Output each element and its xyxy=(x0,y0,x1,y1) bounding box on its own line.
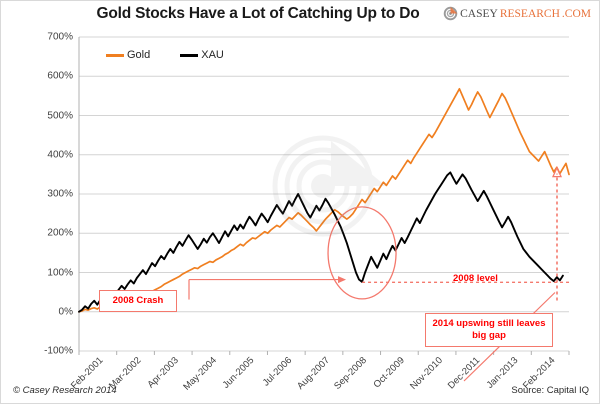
x-tick-label: Sep-2008 xyxy=(333,355,370,392)
legend: Gold XAU xyxy=(106,49,224,61)
logo-word-research: RESEARCH xyxy=(500,8,560,20)
x-tick-label: Oct-2009 xyxy=(372,355,407,390)
annotation-2008-crash: 2008 Crash xyxy=(99,290,177,312)
y-tick-label: 200% xyxy=(27,228,73,239)
annotation-2008-level: 2008 level xyxy=(453,273,498,284)
copyright-text: © Casey Research 2014 xyxy=(13,385,117,396)
spiral-swirl-icon xyxy=(443,6,458,21)
legend-label-xau: XAU xyxy=(201,49,224,61)
x-tick-label: Nov-2010 xyxy=(408,355,445,392)
x-tick-label: Dec-2011 xyxy=(446,355,482,391)
y-tick-label: 600% xyxy=(27,71,73,82)
legend-item-xau[interactable]: XAU xyxy=(180,49,224,61)
legend-swatch-xau xyxy=(180,54,198,57)
y-tick-label: 0% xyxy=(27,306,73,317)
y-axis: 700%600%500%400%300%200%100%0%-100% xyxy=(23,37,73,351)
y-tick-label: 500% xyxy=(27,110,73,121)
page-title: Gold Stocks Have a Lot of Catching Up to… xyxy=(53,5,463,23)
x-tick-label: Jun-2005 xyxy=(221,355,257,391)
source-text: Source: Capital IQ xyxy=(511,385,589,396)
legend-swatch-gold xyxy=(106,54,124,57)
y-tick-label: 300% xyxy=(27,189,73,200)
annotation-2014-gap: 2014 upswing still leaves big gap xyxy=(425,313,553,347)
annotation-crash-circle xyxy=(328,207,396,299)
x-axis: Feb-2001Mar-2002Apr-2003May-2004Jun-2005… xyxy=(79,353,569,393)
legend-label-gold: Gold xyxy=(127,49,150,61)
x-tick-label: Aug-2007 xyxy=(295,355,332,392)
chart-root: Gold Stocks Have a Lot of Catching Up to… xyxy=(0,0,600,404)
x-tick-label: Jul-2006 xyxy=(261,355,295,389)
y-tick-label: 700% xyxy=(27,32,73,43)
legend-item-gold[interactable]: Gold xyxy=(106,49,150,61)
x-tick-label: Apr-2003 xyxy=(146,355,181,390)
logo-word-com: .COM xyxy=(562,8,591,20)
y-tick-label: -100% xyxy=(27,346,73,357)
y-tick-label: 400% xyxy=(27,149,73,160)
x-tick-label: May-2004 xyxy=(181,355,219,393)
annotation-crash-arrowhead xyxy=(338,276,346,283)
casey-research-logo: CASEY RESEARCH .COM xyxy=(443,6,591,21)
logo-word-casey: CASEY xyxy=(460,8,498,20)
y-tick-label: 100% xyxy=(27,267,73,278)
